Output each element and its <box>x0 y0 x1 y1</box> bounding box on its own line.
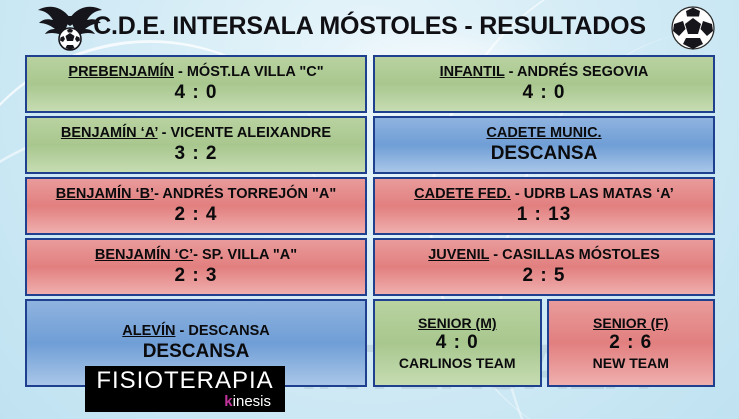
opponent-label: UDRB LAS MATAS ‘A’ <box>524 186 674 202</box>
category-label: BENJAMÍN ‘C’ <box>95 247 193 263</box>
result-card[interactable]: SENIOR (M) 4 : 0 CARLINOS TEAM <box>373 299 542 387</box>
match-line: INFANTIL - ANDRÉS SEGOVIA <box>440 65 649 80</box>
result-card[interactable]: BENJAMÍN ‘A’ - VICENTE ALEIXANDRE 3 : 2 <box>25 116 367 174</box>
score-label: 2 : 3 <box>174 266 217 285</box>
separator: - <box>158 125 171 141</box>
result-col-right: CADETE MUNIC. DESCANSA <box>373 116 715 174</box>
match-line: CADETE MUNIC. <box>486 126 601 141</box>
result-row: BENJAMÍN ‘B’- ANDRÉS TORREJÓN "A" 2 : 4 … <box>25 177 715 235</box>
page-title: C.D.E. INTERSALA MÓSTOLES - RESULTADOS <box>93 12 646 41</box>
result-card[interactable]: BENJAMÍN ‘B’- ANDRÉS TORREJÓN "A" 2 : 4 <box>25 177 367 235</box>
result-card[interactable]: CADETE FED. - UDRB LAS MATAS ‘A’ 1 : 13 <box>373 177 715 235</box>
separator: - <box>174 64 187 80</box>
result-card[interactable]: PREBENJAMÍN - MÓST.LA VILLA "C" 4 : 0 <box>25 55 367 113</box>
opponent-label: DESCANSA <box>188 323 269 339</box>
header-bar: C.D.E. INTERSALA MÓSTOLES - RESULTADOS <box>0 0 739 52</box>
result-col-left: BENJAMÍN ‘A’ - VICENTE ALEIXANDRE 3 : 2 <box>25 116 367 174</box>
score-label: DESCANSA <box>491 144 598 163</box>
sponsor-subname: kinesis <box>224 394 271 409</box>
result-card[interactable]: CADETE MUNIC. DESCANSA <box>373 116 715 174</box>
category-label: CADETE MUNIC. <box>486 125 601 141</box>
result-col-right: CADETE FED. - UDRB LAS MATAS ‘A’ 1 : 13 <box>373 177 715 235</box>
match-line: JUVENIL - CASILLAS MÓSTOLES <box>428 248 660 263</box>
result-row: PREBENJAMÍN - MÓST.LA VILLA "C" 4 : 0 IN… <box>25 55 715 113</box>
score-label: DESCANSA <box>143 342 250 361</box>
category-label: INFANTIL <box>440 64 505 80</box>
score-label: 2 : 6 <box>609 333 652 352</box>
result-row: BENJAMÍN ‘A’ - VICENTE ALEIXANDRE 3 : 2 … <box>25 116 715 174</box>
opponent-label: VICENTE ALEIXANDRE <box>170 125 331 141</box>
category-label: PREBENJAMÍN <box>68 64 174 80</box>
separator: - <box>511 186 524 202</box>
category-label: BENJAMÍN ‘B’ <box>56 186 154 202</box>
match-line: SENIOR (F) <box>593 316 668 330</box>
separator: - <box>193 247 202 263</box>
score-label: 4 : 0 <box>522 83 565 102</box>
match-line: CADETE FED. - UDRB LAS MATAS ‘A’ <box>414 187 674 202</box>
opponent-label: MÓST.LA VILLA "C" <box>187 64 324 80</box>
match-line: BENJAMÍN ‘B’- ANDRÉS TORREJÓN "A" <box>56 187 336 202</box>
separator: - <box>175 323 188 339</box>
result-card[interactable]: BENJAMÍN ‘C’- SP. VILLA "A" 2 : 3 <box>25 238 367 296</box>
score-label: 2 : 5 <box>522 266 565 285</box>
category-label: CADETE FED. <box>414 186 511 202</box>
result-col-right: INFANTIL - ANDRÉS SEGOVIA 4 : 0 <box>373 55 715 113</box>
category-label: JUVENIL <box>428 247 489 263</box>
category-label: BENJAMÍN ‘A’ <box>61 125 158 141</box>
score-label: 4 : 0 <box>436 333 479 352</box>
category-label: ALEVÍN <box>122 323 175 339</box>
sponsor-subname-rest: inesis <box>233 393 271 410</box>
separator: - <box>505 64 517 80</box>
separator: - <box>489 247 502 263</box>
match-line: PREBENJAMÍN - MÓST.LA VILLA "C" <box>68 65 323 80</box>
match-line: BENJAMÍN ‘C’- SP. VILLA "A" <box>95 248 297 263</box>
results-grid: PREBENJAMÍN - MÓST.LA VILLA "C" 4 : 0 IN… <box>25 55 715 390</box>
match-line: SENIOR (M) <box>418 316 497 330</box>
opponent-label: ANDRÉS SEGOVIA <box>517 64 648 80</box>
results-board: INTERSALA C.D.E. INTERSALA MÓSTOLES - RE… <box>0 0 739 419</box>
opponent-label: CASILLAS MÓSTOLES <box>502 247 660 263</box>
category-label: SENIOR (M) <box>418 315 497 331</box>
result-row: BENJAMÍN ‘C’- SP. VILLA "A" 2 : 3 JUVENI… <box>25 238 715 296</box>
result-card[interactable]: SENIOR (F) 2 : 6 NEW TEAM <box>547 299 716 387</box>
result-card[interactable]: JUVENIL - CASILLAS MÓSTOLES 2 : 5 <box>373 238 715 296</box>
winged-soccer-ball-emblem-icon <box>36 2 104 52</box>
category-label: SENIOR (F) <box>593 315 668 331</box>
score-label: 1 : 13 <box>517 205 572 224</box>
team-label: NEW TEAM <box>593 356 669 370</box>
result-col-left: PREBENJAMÍN - MÓST.LA VILLA "C" 4 : 0 <box>25 55 367 113</box>
soccer-ball-icon <box>669 4 717 52</box>
match-line: BENJAMÍN ‘A’ - VICENTE ALEIXANDRE <box>61 126 331 141</box>
score-label: 4 : 0 <box>174 83 217 102</box>
result-col-left: BENJAMÍN ‘C’- SP. VILLA "A" 2 : 3 <box>25 238 367 296</box>
sponsor-name: FISIOTERAPIA <box>96 369 273 393</box>
team-label: CARLINOS TEAM <box>399 356 516 370</box>
match-line: ALEVÍN - DESCANSA <box>122 324 269 339</box>
opponent-label: ANDRÉS TORREJÓN "A" <box>162 186 336 202</box>
result-col-left: BENJAMÍN ‘B’- ANDRÉS TORREJÓN "A" 2 : 4 <box>25 177 367 235</box>
opponent-label: SP. VILLA "A" <box>202 247 297 263</box>
result-col-right: SENIOR (M) 4 : 0 CARLINOS TEAM SENIOR (F… <box>373 299 715 387</box>
result-card[interactable]: INFANTIL - ANDRÉS SEGOVIA 4 : 0 <box>373 55 715 113</box>
score-label: 3 : 2 <box>174 144 217 163</box>
score-label: 2 : 4 <box>174 205 217 224</box>
sponsor-accent-letter: k <box>224 393 232 410</box>
result-col-right: JUVENIL - CASILLAS MÓSTOLES 2 : 5 <box>373 238 715 296</box>
sponsor-logo[interactable]: FISIOTERAPIA kinesis <box>85 366 285 412</box>
